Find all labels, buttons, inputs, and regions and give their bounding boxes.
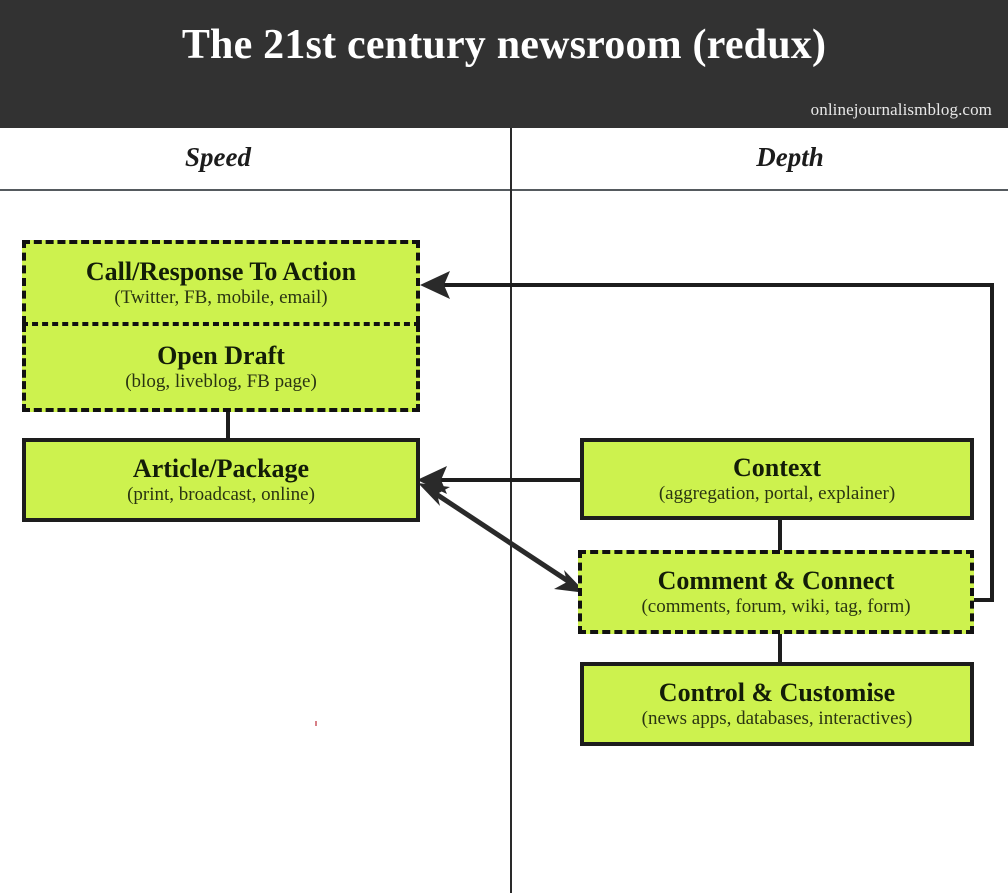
connector-comment-connect-to-control [778, 630, 782, 664]
node-subtitle: (Twitter, FB, mobile, email) [114, 287, 327, 309]
node-call-response-to-action[interactable]: Call/Response To Action (Twitter, FB, mo… [22, 240, 420, 324]
page-title: The 21st century newsroom (redux) [0, 22, 1008, 68]
node-title: Article/Package [133, 454, 309, 483]
source-credit: onlinejournalismblog.com [811, 100, 992, 120]
connector-context-to-article-line [424, 478, 582, 482]
arrowhead-diagonal-to-article [418, 483, 450, 506]
node-subtitle: (print, broadcast, online) [127, 484, 315, 506]
node-article-package[interactable]: Article/Package (print, broadcast, onlin… [22, 438, 420, 522]
connector-loop-top-horizontal [432, 283, 994, 287]
scan-speck [315, 721, 317, 726]
connector-loop-right-vertical [990, 283, 994, 602]
node-subtitle: (comments, forum, wiki, tag, form) [641, 596, 910, 618]
node-subtitle: (news apps, databases, interactives) [642, 708, 913, 730]
node-title: Call/Response To Action [86, 257, 356, 286]
node-title: Comment & Connect [658, 566, 895, 595]
header-band: The 21st century newsroom (redux) online… [0, 0, 1008, 128]
node-title: Open Draft [157, 341, 285, 370]
column-header-depth: Depth [680, 142, 900, 173]
node-subtitle: (aggregation, portal, explainer) [659, 483, 895, 505]
node-open-draft[interactable]: Open Draft (blog, liveblog, FB page) [22, 324, 420, 412]
node-title: Control & Customise [659, 678, 895, 707]
column-header-speed: Speed [108, 142, 328, 173]
column-divider [510, 128, 512, 893]
connector-context-to-comment-connect [778, 516, 782, 552]
node-subtitle: (blog, liveblog, FB page) [125, 371, 317, 393]
node-title: Context [733, 453, 821, 482]
diagram-canvas: The 21st century newsroom (redux) online… [0, 0, 1008, 893]
node-comment-connect[interactable]: Comment & Connect (comments, forum, wiki… [578, 550, 974, 634]
connector-article-comment-diagonal [430, 490, 574, 585]
node-context[interactable]: Context (aggregation, portal, explainer) [580, 438, 974, 520]
header-rule [0, 189, 1008, 191]
node-control-customise[interactable]: Control & Customise (news apps, database… [580, 662, 974, 746]
connector-open-draft-to-article [226, 408, 230, 440]
